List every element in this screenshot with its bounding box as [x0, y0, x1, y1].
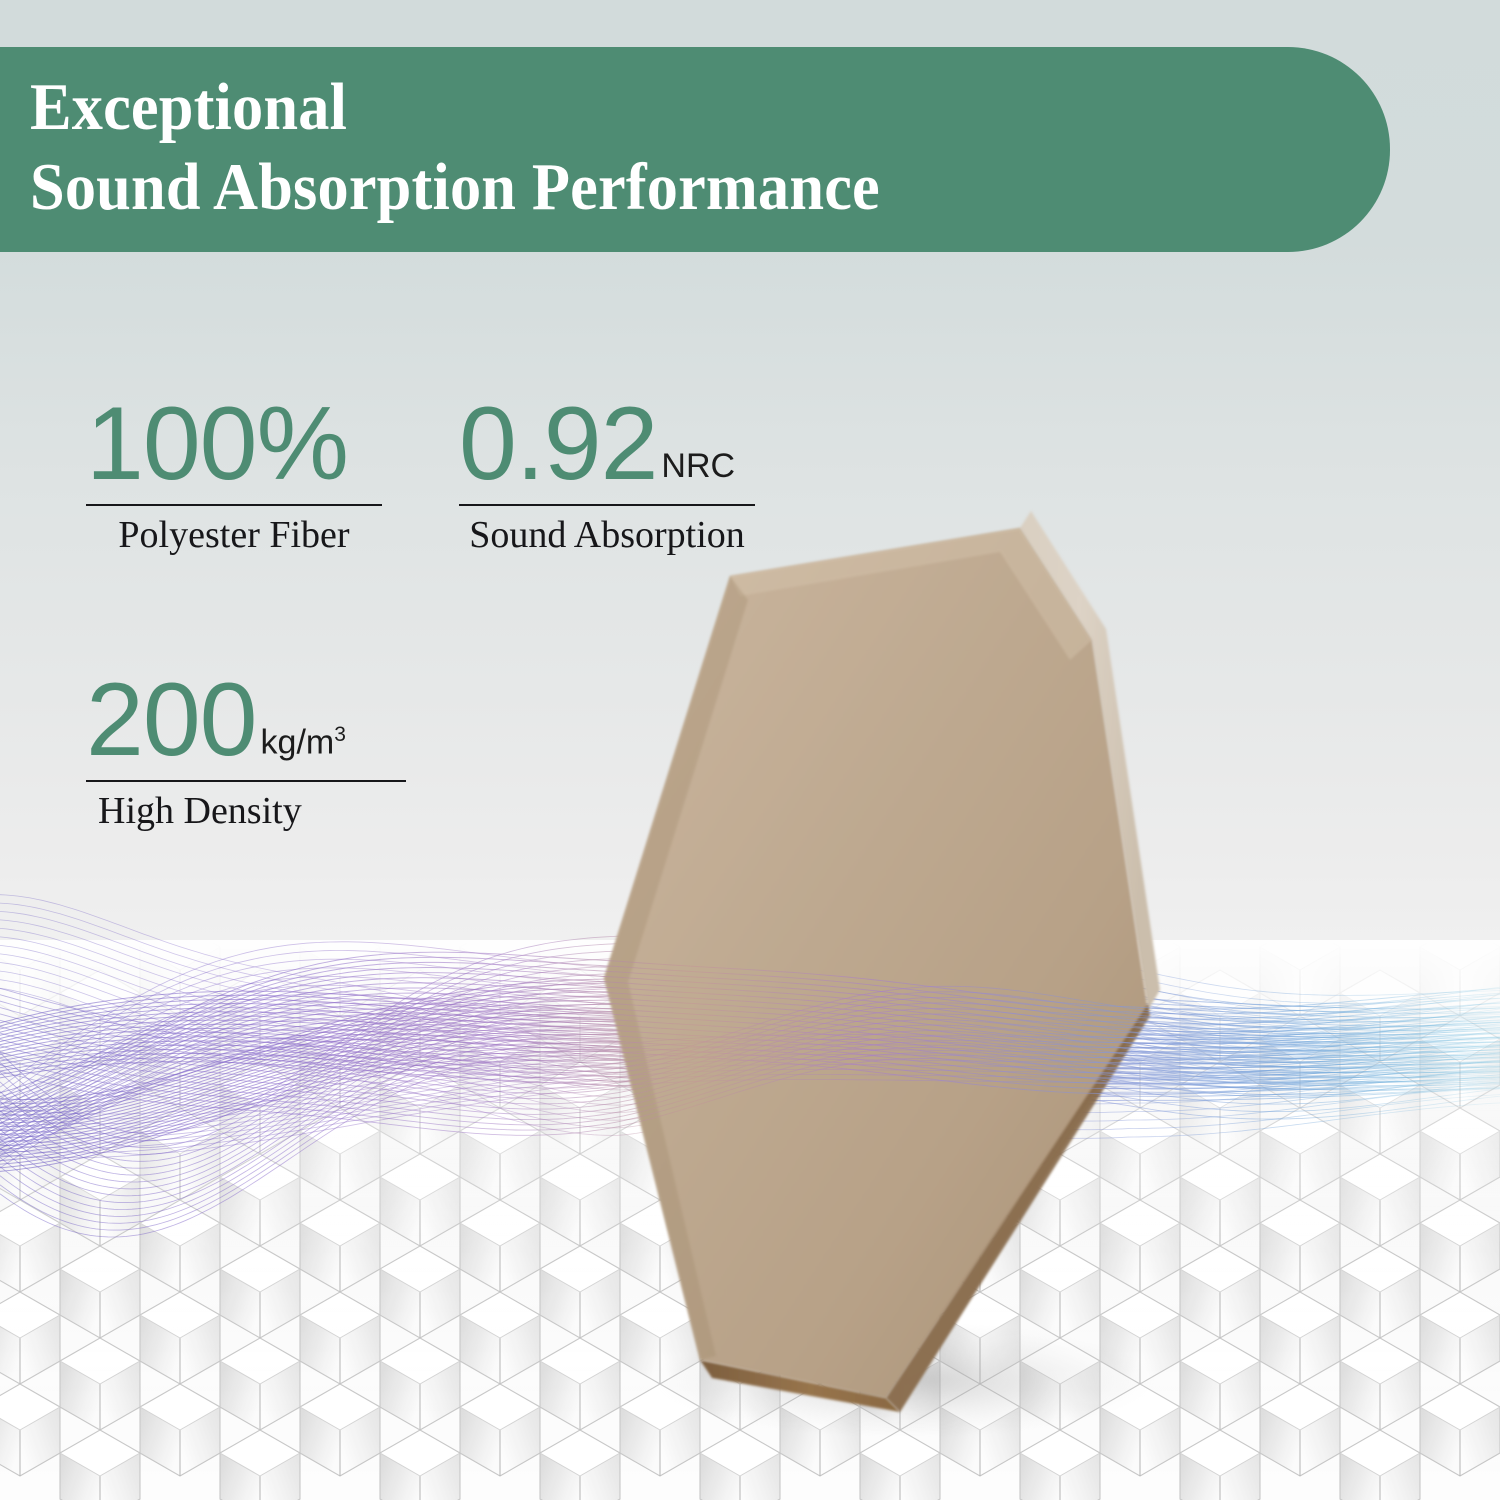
stat-polyester-fiber: 100% Polyester Fiber: [86, 392, 382, 558]
header-banner: Exceptional Sound Absorption Performance: [0, 47, 1390, 252]
headline-line-1: Exceptional: [30, 67, 1295, 147]
headline-line-2: Sound Absorption Performance: [30, 147, 1295, 227]
stat-value-row: 0.92 NRC: [459, 392, 755, 496]
stat-high-density: 200 kg/m3 High Density: [86, 668, 406, 834]
stat-value-polyester: 100%: [86, 392, 348, 496]
stat-label-density: High Density: [86, 788, 406, 834]
stat-unit-base: kg/m: [261, 723, 335, 761]
stat-value-row: 100%: [86, 392, 382, 496]
stat-nrc: 0.92 NRC Sound Absorption: [459, 392, 755, 558]
stat-divider: [459, 504, 755, 506]
stat-unit-exponent: 3: [334, 723, 346, 746]
stat-value-density: 200: [86, 668, 257, 772]
hexagon-pattern-backdrop: [0, 940, 1500, 1500]
honeycomb-svg: [0, 940, 1500, 1500]
stat-value-row: 200 kg/m3: [86, 668, 406, 772]
stat-unit-nrc: NRC: [661, 449, 735, 483]
stat-divider: [86, 780, 406, 782]
product-feature-banner: Exceptional Sound Absorption Performance: [0, 0, 1500, 1500]
stat-value-nrc: 0.92: [459, 392, 657, 496]
stat-divider: [86, 504, 382, 506]
stat-label-polyester: Polyester Fiber: [86, 512, 382, 558]
stat-label-nrc: Sound Absorption: [459, 512, 755, 558]
stat-unit-density: kg/m3: [261, 718, 346, 759]
